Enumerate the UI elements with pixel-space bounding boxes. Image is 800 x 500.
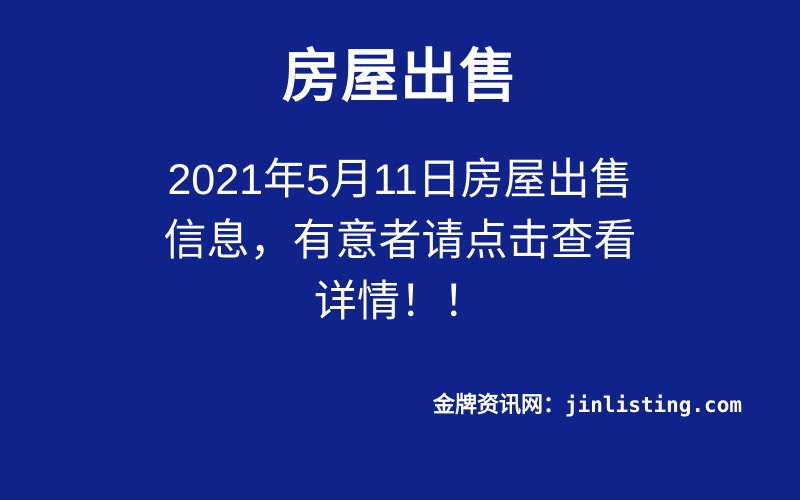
body-line-2: 信息，有意者请点击查看 <box>100 211 700 272</box>
page-title: 房屋出售 <box>0 44 800 110</box>
body-line-1: 2021年5月11日房屋出售 <box>100 150 700 211</box>
site-name-label: 金牌资讯网： <box>433 392 565 417</box>
site-watermark: 金牌资讯网：jinlisting.com <box>433 392 742 421</box>
announcement-poster: 房屋出售 2021年5月11日房屋出售 信息，有意者请点击查看 详情！！ 金牌资… <box>0 0 800 500</box>
announcement-body: 2021年5月11日房屋出售 信息，有意者请点击查看 详情！！ <box>100 150 700 333</box>
body-line-3: 详情！！ <box>100 272 700 333</box>
title-text: 房屋出售 <box>282 44 518 110</box>
site-url-text: jinlisting.com <box>565 393 742 417</box>
